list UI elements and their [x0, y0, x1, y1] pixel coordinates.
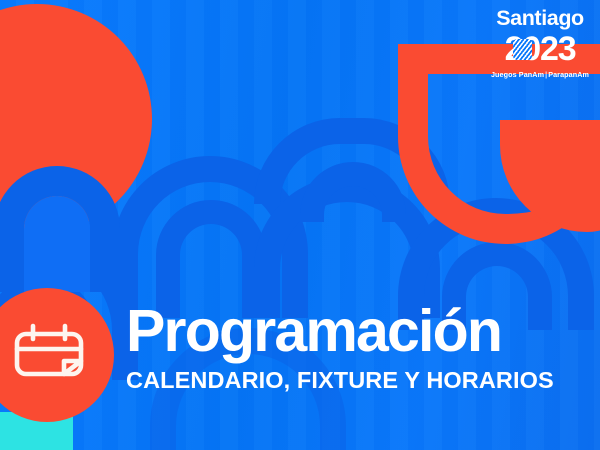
logo-tagline-separator: | [544, 70, 548, 79]
arch-notch-inner-top-left [24, 196, 90, 292]
page-subtitle: CALENDARIO, FIXTURE Y HORARIOS [126, 369, 592, 393]
logo-tagline: Juegos PanAm|ParapanAm [488, 70, 592, 79]
logo-year-wrap: 2023 [488, 32, 592, 66]
logo-swirl-icon [513, 39, 532, 60]
logo-tagline-right: ParapanAm [548, 70, 589, 79]
red-hook-cap [398, 44, 490, 74]
calendar-icon [14, 318, 84, 388]
headline-block: Programación CALENDARIO, FIXTURE Y HORAR… [126, 302, 592, 393]
logo-tagline-left: Juegos PanAm [491, 70, 544, 79]
page-title: Programación [126, 302, 592, 361]
santiago-2023-logo: Santiago 2023 Juegos PanAm|ParapanAm [488, 8, 592, 79]
poster-canvas: Santiago 2023 Juegos PanAm|ParapanAm Pro… [0, 0, 600, 450]
logo-city-name: Santiago [488, 8, 592, 30]
